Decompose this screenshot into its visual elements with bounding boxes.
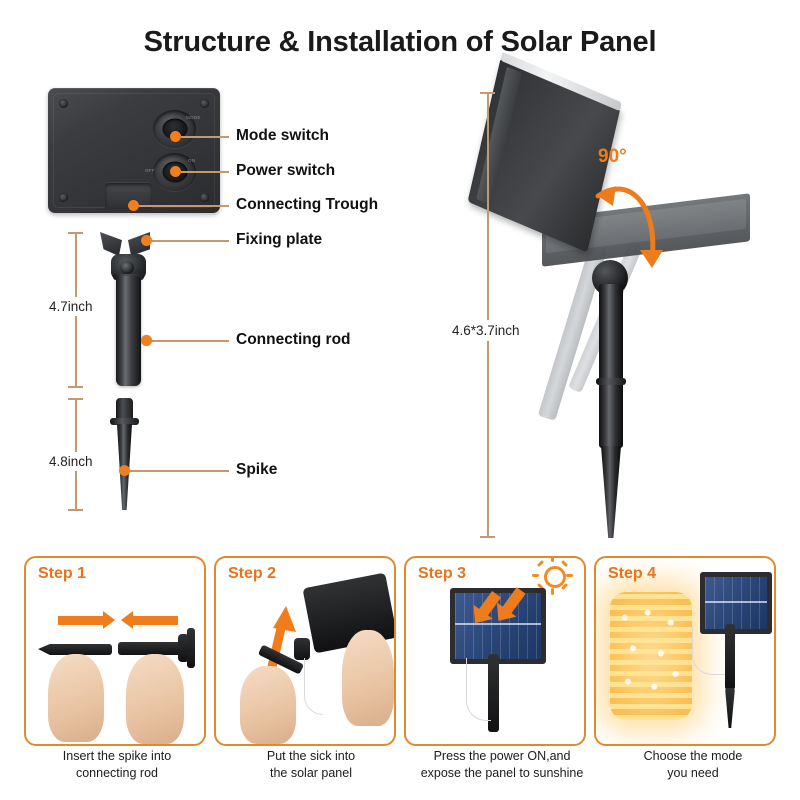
step-2-caption: Put the sick into the solar panel [218, 748, 404, 782]
rotation-arc-icon [480, 78, 780, 328]
dimension-label-spike: 4.8inch [46, 452, 96, 471]
spike-illustration [104, 398, 148, 510]
callout-dot-mode-switch [170, 131, 181, 142]
leader-line-connecting-trough [139, 205, 229, 207]
dimension-cap-bottom-rod [68, 386, 83, 388]
sun-ray [537, 560, 544, 567]
wire [304, 658, 323, 715]
callout-label-power-switch: Power switch [236, 162, 335, 180]
hand-left [48, 654, 104, 742]
infographic-page: Structure & Installation of Solar Panel … [0, 0, 800, 800]
step-card-2[interactable]: Step 2 [214, 556, 396, 746]
joint-part [294, 638, 310, 660]
step-2-caption-line2: the solar panel [218, 765, 404, 782]
leader-line-connecting-rod [152, 340, 229, 342]
leader-line-mode-switch [181, 136, 229, 138]
sun-ray [532, 574, 539, 577]
hand-right [342, 630, 394, 726]
wire [466, 658, 491, 721]
callout-dot-spike [119, 465, 130, 476]
dimension-cap-bottom-panel [480, 536, 495, 538]
callout-label-mode-switch: Mode switch [236, 127, 329, 145]
power-on-marking: ON [188, 158, 195, 163]
assembled-rod-collar [596, 378, 626, 385]
callout-label-spike: Spike [236, 461, 277, 479]
spike-part [725, 688, 735, 728]
sun-ray [566, 574, 573, 577]
assembled-product-illustration: 90° [480, 78, 780, 548]
power-off-marking: OFF [145, 168, 155, 173]
spike-flange [110, 418, 139, 425]
sun-ray [551, 556, 554, 562]
connecting-rod-illustration [98, 228, 160, 388]
step-4-caption-line2: you need [600, 765, 786, 782]
step-3-caption-line1: Press the power ON,and [404, 748, 600, 765]
installation-steps: Step 1 Step 2 [24, 556, 776, 746]
hand-left [240, 666, 296, 744]
step-1-caption-line2: connecting rod [24, 765, 210, 782]
screw-icon [59, 193, 68, 202]
cell-divider [705, 601, 767, 603]
step-4-title: Step 4 [608, 565, 656, 583]
mode-switch-marking: MODE [186, 115, 201, 120]
mounting-pole [725, 624, 735, 690]
step-3-caption: Press the power ON,and expose the panel … [404, 748, 600, 782]
assembled-spike [601, 446, 621, 538]
callout-dot-fixing-plate [141, 235, 152, 246]
step-4-photo [596, 558, 774, 744]
callout-dot-connecting-rod [141, 335, 152, 346]
cell-divider [455, 623, 541, 625]
solar-panel-back-illustration: MODE OFF ON [48, 88, 220, 213]
step-3-title: Step 3 [418, 565, 466, 583]
spike-top [116, 398, 133, 420]
dimension-label-panel: 4.6*3.7inch [448, 320, 524, 341]
fixing-plate-left-wing [100, 232, 122, 256]
arrow-right-icon [58, 616, 104, 625]
step-1-title: Step 1 [38, 565, 86, 583]
arrow-left-icon [132, 616, 178, 625]
callout-dot-power-switch [170, 166, 181, 177]
step-3-caption-line2: expose the panel to sunshine [404, 765, 600, 782]
sun-ray [561, 560, 568, 567]
page-title: Structure & Installation of Solar Panel [0, 26, 800, 59]
callout-dot-connecting-trough [128, 200, 139, 211]
dimension-line-panel [487, 92, 489, 537]
led-string-light-coil [610, 592, 692, 720]
callout-label-connecting-rod: Connecting rod [236, 331, 351, 349]
hand-right [126, 654, 184, 744]
step-1-caption-line1: Insert the spike into [24, 748, 210, 765]
step-2-title: Step 2 [228, 565, 276, 583]
step-1-caption: Insert the spike into connecting rod [24, 748, 210, 782]
leader-line-power-switch [181, 171, 229, 173]
rod-tube [116, 276, 141, 386]
step-2-photo [216, 558, 394, 744]
step-4-caption: Choose the mode you need [600, 748, 786, 782]
step-card-1[interactable]: Step 1 [24, 556, 206, 746]
leader-line-fixing-plate [152, 240, 229, 242]
cell-grid [705, 577, 767, 629]
step-card-3[interactable]: Step 3 [404, 556, 586, 746]
screw-icon [200, 193, 209, 202]
step-3-photo [406, 558, 584, 744]
dimension-label-rod: 4.7inch [46, 297, 96, 316]
callout-label-connecting-trough: Connecting Trough [236, 196, 378, 214]
wire [692, 626, 725, 675]
step-4-caption-line1: Choose the mode [600, 748, 786, 765]
step-1-photo [26, 558, 204, 744]
dimension-cap-top-spike [68, 398, 83, 400]
screw-icon [200, 99, 209, 108]
sun-ray [551, 588, 554, 595]
screw-icon [59, 99, 68, 108]
dimension-cap-bottom-spike [68, 509, 83, 511]
solar-panel-front [700, 572, 772, 634]
dimension-cap-top-rod [68, 232, 83, 234]
fixing-plate-part [187, 628, 195, 668]
step-2-caption-line1: Put the sick into [218, 748, 404, 765]
angle-label: 90° [598, 146, 627, 168]
step-card-4[interactable]: Step 4 [594, 556, 776, 746]
led-bulbs [610, 592, 692, 720]
callout-label-fixing-plate: Fixing plate [236, 231, 322, 249]
dimension-cap-top-panel [480, 92, 495, 94]
